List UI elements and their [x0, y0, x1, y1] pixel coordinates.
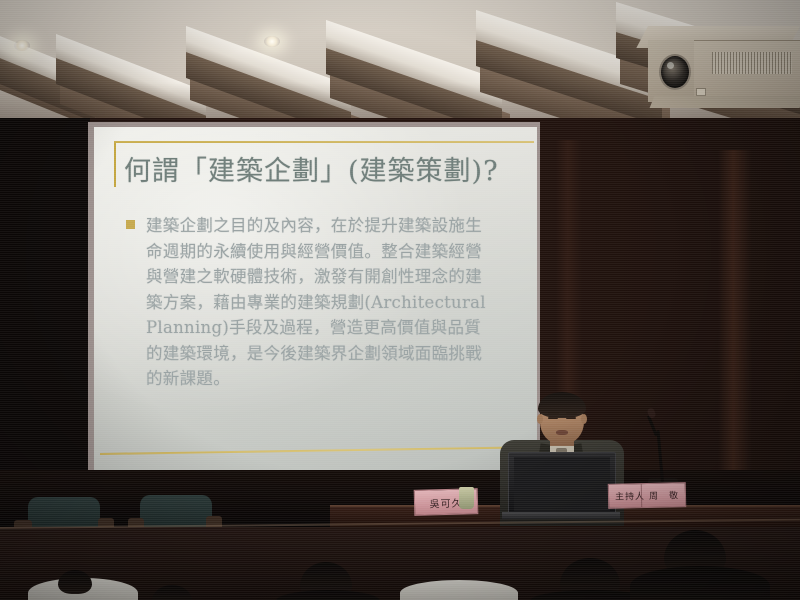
lecture-hall-photo: 何謂「建築企劃」(建築策劃)? 建築企劃之目的及內容，在於提升建築設施生 命週期…	[0, 0, 800, 600]
speaker-nameplate-text: 吳可久	[429, 494, 462, 510]
presenter-mouth	[556, 430, 568, 435]
projection-screen: 何謂「建築企劃」(建築策劃)? 建築企劃之目的及內容，在於提升建築設施生 命週期…	[94, 127, 537, 471]
slide-body-text: 建築企劃之目的及內容，在於提升建築設施生 命週期的永續使用與經營價值。整合建築經…	[146, 213, 486, 392]
body-line-2: 命週期的永續使用與經營價值。整合建築經營	[146, 239, 486, 265]
presenter-brow-right	[566, 412, 577, 414]
presenter-eye-left	[548, 417, 558, 419]
ceiling-projector	[648, 26, 800, 126]
body-line-5: Planning)手段及過程，營造更高價值與品質	[146, 315, 486, 341]
laptop-base	[502, 512, 620, 519]
body-line-7: 的新課題。	[146, 366, 486, 392]
audience-member-4	[400, 580, 518, 600]
presenter-eye-right	[566, 417, 576, 419]
laptop-lid-back	[514, 457, 610, 511]
body-line-3: 與營建之軟硬體技術，激發有開創性理念的建	[146, 264, 486, 290]
wall-left-dark	[0, 118, 90, 500]
presenter-laptop	[508, 452, 616, 516]
body-line-1: 建築企劃之目的及內容，在於提升建築設施生	[146, 213, 486, 239]
audience-shoulders-6	[630, 566, 770, 600]
moderator-nameplate: 主持人 周 敬	[608, 482, 687, 509]
slide-title: 何謂「建築企劃」(建築策劃)?	[124, 149, 499, 188]
projector-vent-grille	[712, 52, 792, 74]
projector-lens-icon	[659, 54, 691, 90]
moderator-name-text: 周 敬	[649, 488, 679, 502]
paper-cup	[459, 487, 474, 509]
presenter-ear-right	[581, 414, 587, 424]
body-line-6: 的建築環境，是今後建築界企劃領域面臨挑戰	[146, 341, 486, 367]
projector-indicator-icon	[696, 88, 706, 96]
projector-mount	[650, 96, 800, 108]
presenter-hair	[538, 392, 586, 418]
presenter-ear-left	[537, 414, 543, 424]
title-top-rule	[114, 141, 534, 143]
body-line-4: 築方案，藉由專業的建築規劃(Architectural	[146, 290, 486, 316]
bullet-marker-icon	[126, 220, 135, 229]
presenter-brow-left	[548, 412, 559, 414]
wall-wood-panel	[718, 150, 752, 480]
audience-head-1	[58, 570, 92, 594]
